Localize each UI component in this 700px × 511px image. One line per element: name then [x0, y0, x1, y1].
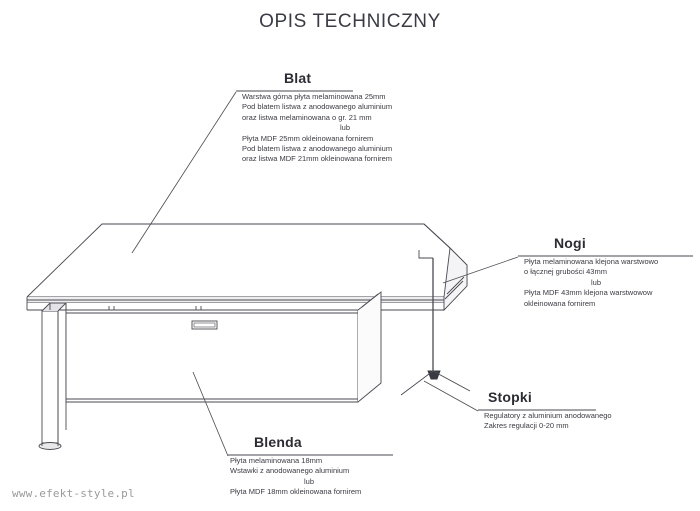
callout-nogi-body: Płyta melaminowana klejona warstwowo o ł… — [518, 251, 698, 309]
callout-nogi-alt-line-2: okleinowana fornirem — [524, 299, 595, 308]
callout-blat: Blat Warstwa górna płyta melaminowana 25… — [236, 70, 466, 165]
callout-blat-line-3: oraz listwa melaminowana o gr. 21 mm — [242, 113, 372, 122]
callout-stopki: Stopki Regulatory z aluminium anodowaneg… — [478, 389, 678, 432]
callout-stopki-heading: Stopki — [478, 389, 678, 405]
callout-blenda-line-2: Wstawki z anodowanego aluminium — [230, 466, 349, 475]
callout-nogi-alt-line-1: Płyta MDF 43mm klejona warstwowow — [524, 288, 652, 297]
callout-stopki-body: Regulatory z aluminium anodowanego Zakre… — [478, 405, 678, 432]
callout-blenda-alt-line-1: Płyta MDF 18mm okleinowana fornirem — [230, 487, 361, 496]
callout-stopki-line-2: Zakres regulacji 0-20 mm — [484, 421, 569, 430]
callout-blenda-body: Płyta melaminowana 18mm Wstawki z anodow… — [228, 450, 428, 498]
callout-blat-separator: lub — [242, 123, 466, 133]
callout-nogi: Nogi Płyta melaminowana klejona warstwow… — [518, 235, 698, 309]
aluminium-insert-inner — [194, 323, 215, 327]
callout-blat-alt-line-2: Pod blatem listwa z anodowanego aluminiu… — [242, 144, 392, 153]
right-leg-foot-block — [428, 371, 440, 379]
callout-blenda-line-1: Płyta melaminowana 18mm — [230, 456, 322, 465]
page-title: OPIS TECHNICZNY — [0, 11, 700, 33]
callout-blat-body: Warstwa górna płyta melaminowana 25mm Po… — [236, 86, 466, 165]
callout-nogi-heading: Nogi — [518, 235, 698, 251]
watermark: www.efekt-style.pl — [12, 487, 135, 500]
right-leg-slab — [419, 250, 433, 371]
technical-description-page: OPIS TECHNICZNY Blat Warstwa górna płyta… — [0, 0, 700, 511]
callout-blenda: Blenda Płyta melaminowana 18mm Wstawki z… — [228, 434, 428, 498]
callout-nogi-line-2: o łącznej grubości 43mm — [524, 267, 607, 276]
leader-line-stopki — [424, 381, 478, 411]
callout-blat-line-1: Warstwa górna płyta melaminowana 25mm — [242, 92, 386, 101]
callout-stopki-line-1: Regulatory z aluminium anodowanego — [484, 411, 612, 420]
callout-nogi-line-1: Płyta melaminowana klejona warstwowo — [524, 257, 658, 266]
left-leg-panel-face — [42, 311, 58, 443]
callout-blat-heading: Blat — [236, 70, 466, 86]
callout-blenda-heading: Blenda — [228, 434, 428, 450]
callout-blat-alt-line-3: oraz listwa MDF 21mm okleinowana fornire… — [242, 154, 392, 163]
callout-nogi-separator: lub — [524, 278, 698, 288]
callout-blat-alt-line-1: Płyta MDF 25mm okleinowana fornirem — [242, 134, 373, 143]
callout-blenda-separator: lub — [230, 477, 428, 487]
callout-blat-line-2: Pod blatem listwa z anodowanego aluminiu… — [242, 102, 392, 111]
